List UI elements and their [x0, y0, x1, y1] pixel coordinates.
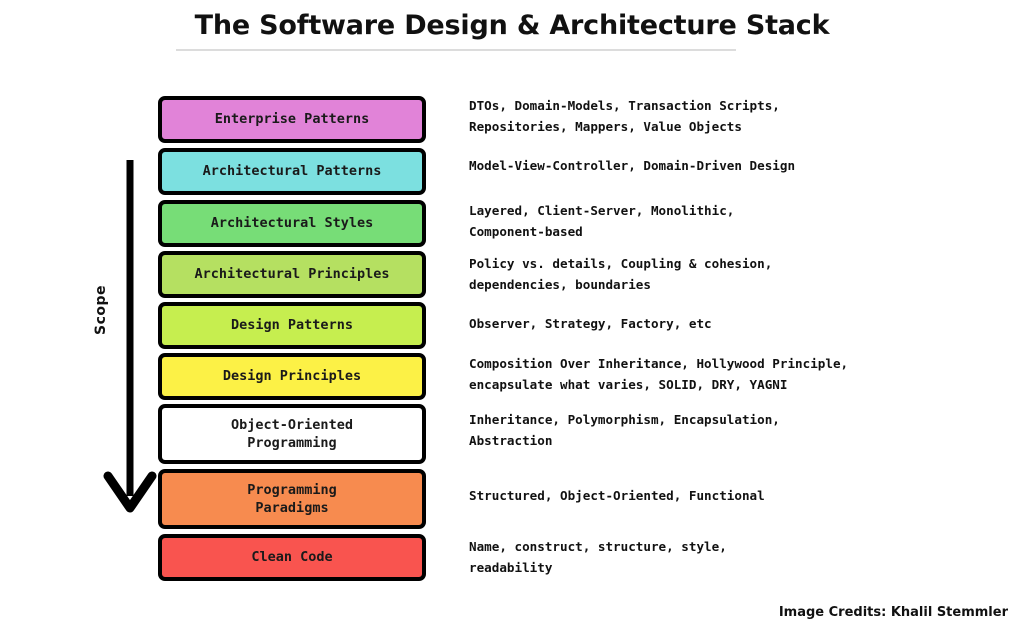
stack-layer-box[interactable]: Architectural Styles [158, 200, 426, 247]
stack-layer-row: Design Patterns [158, 302, 426, 349]
stack-layer-box[interactable]: Programming Paradigms [158, 469, 426, 529]
layer-description: Name, construct, structure, style, reada… [469, 537, 727, 579]
down-arrow-icon [100, 160, 160, 520]
layer-description: Inheritance, Polymorphism, Encapsulation… [469, 410, 780, 452]
title-underline-rule [176, 49, 736, 51]
stack-layer-box[interactable]: Design Patterns [158, 302, 426, 349]
title-block: The Software Design & Architecture Stack [0, 10, 1024, 42]
stack-layer-row: Enterprise Patterns [158, 96, 426, 143]
stack-layer-row: Programming Paradigms [158, 469, 426, 529]
layer-description: Structured, Object-Oriented, Functional [469, 486, 765, 507]
stack-layer-box[interactable]: Enterprise Patterns [158, 96, 426, 143]
layer-description: Policy vs. details, Coupling & cohesion,… [469, 254, 772, 296]
layer-description: Model-View-Controller, Domain-Driven Des… [469, 156, 795, 177]
stack-layer-box[interactable]: Clean Code [158, 534, 426, 581]
stack-layer-row: Design Principles [158, 353, 426, 400]
stack-layer-row: Object-Oriented Programming [158, 404, 426, 464]
stack-layer-box[interactable]: Architectural Principles [158, 251, 426, 298]
stack-layer-box[interactable]: Object-Oriented Programming [158, 404, 426, 464]
layer-description: Observer, Strategy, Factory, etc [469, 314, 712, 335]
page-title: The Software Design & Architecture Stack [191, 10, 834, 42]
layer-description: DTOs, Domain-Models, Transaction Scripts… [469, 96, 780, 138]
scope-axis: Scope [60, 150, 170, 530]
stack-layer-box[interactable]: Architectural Patterns [158, 148, 426, 195]
stack-layer-row: Architectural Patterns [158, 148, 426, 195]
stack-layer-row: Architectural Principles [158, 251, 426, 298]
image-credits: Image Credits: Khalil Stemmler [779, 605, 1008, 620]
layer-description: Layered, Client-Server, Monolithic, Comp… [469, 201, 734, 243]
stack-layer-row: Clean Code [158, 534, 426, 581]
stack-layer-box[interactable]: Design Principles [158, 353, 426, 400]
layer-description: Composition Over Inheritance, Hollywood … [469, 354, 848, 396]
stack-layer-row: Architectural Styles [158, 200, 426, 247]
